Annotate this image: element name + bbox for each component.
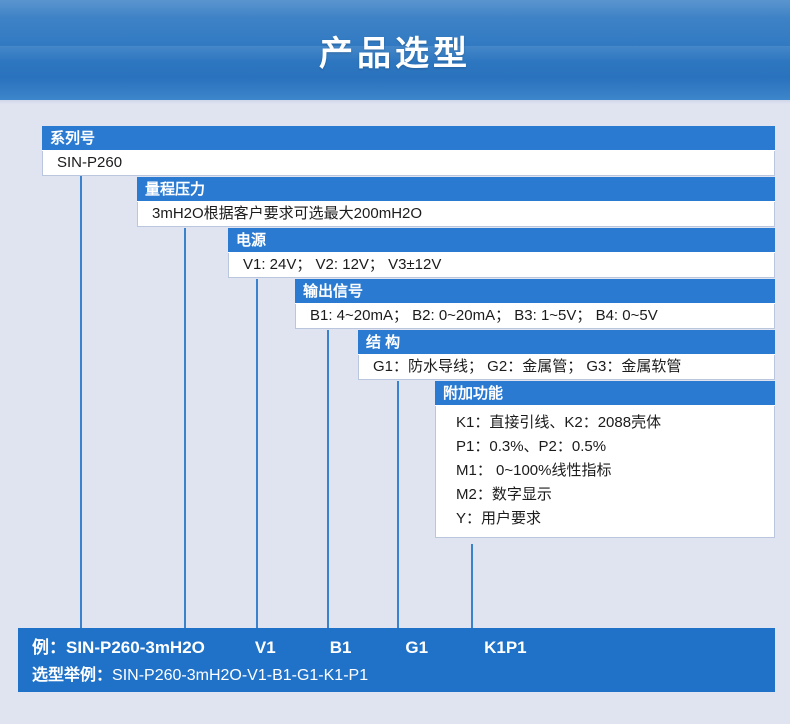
connector-line-range: [184, 228, 186, 628]
extra-function-option-p[interactable]: P1：0.3%、P2：0.5%: [456, 435, 768, 459]
level-output-signal: 输出信号 B1: 4~20mA； B2: 0~20mA； B3: 1~5V； B…: [295, 279, 775, 329]
level-extra-functions: 附加功能 K1：直接引线、K2：2088壳体 P1：0.3%、P2：0.5% M…: [435, 381, 775, 538]
selection-example-value: SIN-P260-3mH2O-V1-B1-G1-K1-P1: [112, 667, 368, 684]
connector-line-extra-functions: [471, 544, 473, 628]
level-output-signal-option[interactable]: B1: 4~20mA； B2: 0~20mA； B3: 1~5V； B4: 0~…: [310, 304, 768, 328]
example-part-output: B1: [330, 638, 352, 658]
example-part-structure: G1: [405, 638, 428, 658]
level-output-signal-body: B1: 4~20mA； B2: 0~20mA； B3: 1~5V； B4: 0~…: [295, 304, 775, 329]
extra-function-option-m2[interactable]: M2：数字显示: [456, 483, 768, 507]
page-title: 产品选型: [0, 26, 790, 75]
level-series-header: 系列号: [42, 126, 775, 151]
page-banner: 产品选型: [0, 0, 790, 100]
extra-function-option-m1[interactable]: M1： 0~100%线性指标: [456, 459, 768, 483]
extra-function-option-k[interactable]: K1：直接引线、K2：2088壳体: [456, 411, 768, 435]
level-range-pressure-option[interactable]: 3mH2O根据客户要求可选最大200mH2O: [152, 202, 768, 226]
level-structure: 结 构 G1：防水导线； G2：金属管； G3：金属软管: [358, 330, 775, 380]
level-power-supply: 电源 V1: 24V； V2: 12V； V3±12V: [228, 228, 775, 278]
level-series-option[interactable]: SIN-P260: [57, 151, 768, 175]
example-part-series: SIN-P260-3mH2O: [66, 638, 205, 658]
level-range-pressure-header: 量程压力: [137, 177, 775, 202]
example-part-extra: K1P1: [484, 638, 527, 658]
level-series: 系列号 SIN-P260: [42, 126, 775, 176]
level-series-body: SIN-P260: [42, 151, 775, 176]
example-footer: 例：SIN-P260-3mH2OV1B1G1K1P1 选型举例：SIN-P260…: [18, 628, 775, 692]
level-extra-functions-body: K1：直接引线、K2：2088壳体 P1：0.3%、P2：0.5% M1： 0~…: [435, 406, 775, 538]
example-code-line: 例：SIN-P260-3mH2OV1B1G1K1P1: [32, 633, 527, 658]
level-power-supply-option[interactable]: V1: 24V； V2: 12V； V3±12V: [243, 253, 768, 277]
level-range-pressure-body: 3mH2O根据客户要求可选最大200mH2O: [137, 202, 775, 227]
extra-function-option-y[interactable]: Y：用户要求: [456, 507, 768, 531]
example-part-power: V1: [255, 638, 276, 658]
connector-line-power: [256, 279, 258, 628]
level-power-supply-header: 电源: [228, 228, 775, 253]
level-structure-header: 结 构: [358, 330, 775, 355]
level-power-supply-body: V1: 24V； V2: 12V； V3±12V: [228, 253, 775, 278]
connector-line-structure: [397, 381, 399, 628]
level-extra-functions-header: 附加功能: [435, 381, 775, 406]
level-structure-option[interactable]: G1：防水导线； G2：金属管； G3：金属软管: [373, 355, 768, 379]
selection-example-line: 选型举例：SIN-P260-3mH2O-V1-B1-G1-K1-P1: [32, 661, 368, 685]
selection-example-label: 选型举例：: [32, 667, 112, 684]
connector-line-output: [327, 330, 329, 628]
level-output-signal-header: 输出信号: [295, 279, 775, 304]
level-structure-body: G1：防水导线； G2：金属管； G3：金属软管: [358, 355, 775, 380]
level-range-pressure: 量程压力 3mH2O根据客户要求可选最大200mH2O: [137, 177, 775, 227]
example-label: 例：: [32, 633, 66, 658]
connector-line-series: [80, 176, 82, 628]
